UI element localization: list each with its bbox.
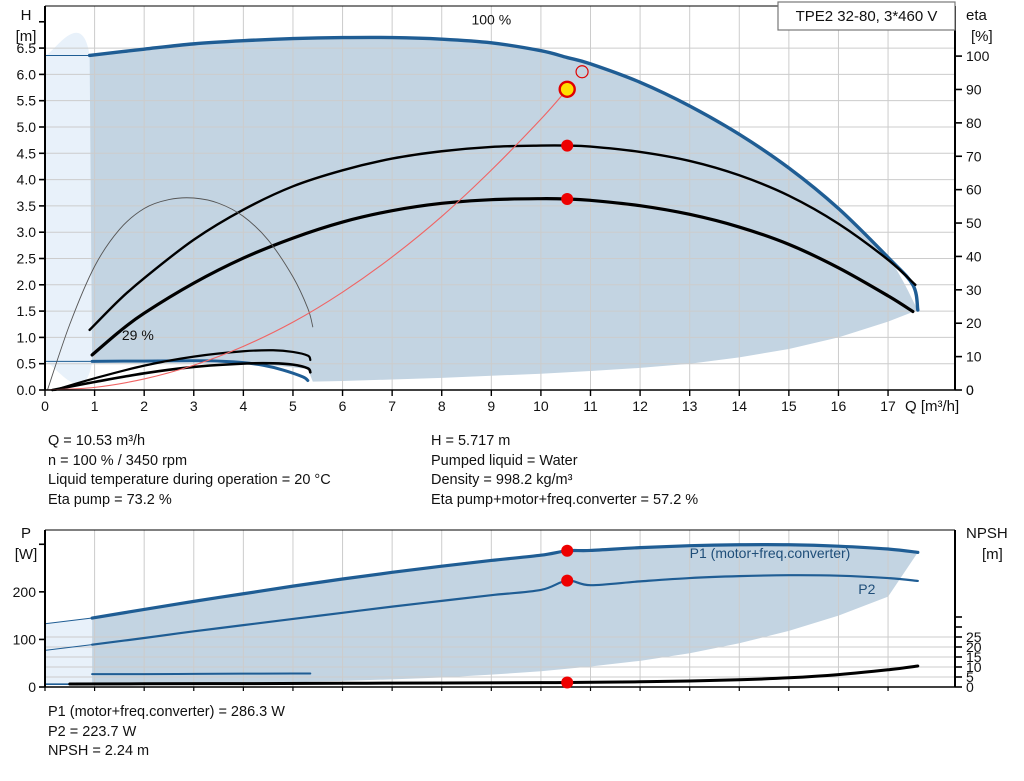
tick-label-eta: 80: [966, 115, 982, 131]
tick-label-npsh: 25: [966, 629, 982, 645]
y-axis-title-h: H: [21, 7, 32, 24]
y-axis-unit-eta: [%]: [971, 28, 993, 45]
title-box-label: TPE2 32-80, 3*460 V: [796, 8, 938, 25]
tick-label-h: 1.0: [17, 329, 37, 345]
tick-label-q: 15: [781, 398, 797, 414]
tick-label-h: 2.5: [17, 250, 37, 266]
tick-label-eta: 30: [966, 282, 982, 298]
tick-label-h: 0.5: [17, 356, 37, 372]
duty-info-left: Q = 10.53 m³/hn = 100 % / 3450 rpmLiquid…: [48, 432, 331, 510]
tick-label-eta: 90: [966, 81, 982, 97]
curve-p-29: [92, 673, 310, 674]
tick-label-h: 2.0: [17, 277, 37, 293]
duty-info-line-3: Liquid temperature during operation = 20…: [48, 471, 331, 491]
power-info-line-3: NPSH = 2.24 m: [48, 742, 285, 762]
tick-label-h: 3.5: [17, 198, 37, 214]
liquid-info-line-2: Pumped liquid = Water: [431, 452, 698, 472]
tick-label-p: 200: [13, 584, 37, 600]
tick-label-q: 13: [682, 398, 698, 414]
tick-label-q: 6: [339, 398, 347, 414]
tick-label-q: 12: [632, 398, 648, 414]
tick-label-q: 3: [190, 398, 198, 414]
tick-label-q: 16: [831, 398, 847, 414]
tick-label-h: 3.0: [17, 224, 37, 240]
tick-label-h: 1.5: [17, 303, 37, 319]
tick-label-q: 9: [487, 398, 495, 414]
tick-label-h: 4.0: [17, 172, 37, 188]
x-axis-title: Q [m³/h]: [905, 398, 959, 415]
duty-info-right: H = 5.717 mPumped liquid = WaterDensity …: [431, 432, 698, 510]
tick-label-h: 5.5: [17, 93, 37, 109]
liquid-info-line-3: Density = 998.2 kg/m³: [431, 471, 698, 491]
tick-label-zero-right: 0: [966, 382, 974, 398]
power-info: P1 (motor+freq.converter) = 286.3 WP2 = …: [48, 703, 285, 762]
tick-label-h: 5.0: [17, 119, 37, 135]
annotation-1: 100 %: [471, 11, 511, 27]
head-efficiency-svg: 0.00.51.01.52.02.53.03.54.04.55.05.56.06…: [0, 0, 1024, 425]
tick-label-q: 14: [731, 398, 747, 414]
legend-label-1: P1 (motor+freq.converter): [690, 545, 851, 561]
power-npsh-svg: 01002000510152025P[W]NPSH[m]P1 (motor+fr…: [0, 518, 1024, 700]
p1-point[interactable]: [561, 545, 573, 557]
head-efficiency-chart: 0.00.51.01.52.02.53.03.54.04.55.05.56.06…: [0, 0, 1024, 425]
y-axis-title-npsh: NPSH: [966, 525, 1008, 542]
npsh-point[interactable]: [561, 677, 573, 689]
tick-label-eta: 40: [966, 248, 982, 264]
tick-label-eta: 10: [966, 349, 982, 365]
tick-label-h: 4.5: [17, 145, 37, 161]
tick-label-q: 11: [583, 398, 598, 414]
tick-label-q: 4: [239, 398, 247, 414]
tick-label-q: 0: [41, 398, 49, 414]
tick-label-q: 1: [91, 398, 99, 414]
tick-label-eta: 100: [966, 48, 990, 64]
tick-label-p: 100: [13, 631, 37, 647]
tick-label-p: 0: [28, 679, 36, 695]
eta-pump-point[interactable]: [561, 140, 573, 152]
eta-total-point[interactable]: [561, 193, 573, 205]
duty-info-line-1: Q = 10.53 m³/h: [48, 432, 331, 452]
tick-label-q: 10: [533, 398, 549, 414]
legend-label-2: P2: [858, 581, 875, 597]
power-info-line-2: P2 = 223.7 W: [48, 723, 285, 743]
duty-info-line-2: n = 100 % / 3450 rpm: [48, 452, 331, 472]
y-axis-title-eta: eta: [966, 7, 988, 24]
y-axis-title-p: P: [21, 525, 31, 542]
pump-curve-page: 0.00.51.01.52.02.53.03.54.04.55.05.56.06…: [0, 0, 1024, 781]
tick-label-q: 2: [140, 398, 148, 414]
tick-label-eta: 60: [966, 182, 982, 198]
tick-label-q: 8: [438, 398, 446, 414]
p2-point[interactable]: [561, 575, 573, 587]
y-axis-unit-h: [m]: [16, 28, 37, 45]
tick-label-q: 7: [388, 398, 396, 414]
duty-info-line-4: Eta pump = 73.2 %: [48, 491, 331, 511]
tick-label-h: 0.0: [17, 382, 37, 398]
tick-label-eta: 50: [966, 215, 982, 231]
tick-label-h: 6.0: [17, 66, 37, 82]
power-npsh-chart: 01002000510152025P[W]NPSH[m]P1 (motor+fr…: [0, 518, 1024, 700]
min-speed-band: [45, 33, 97, 384]
liquid-info-line-1: H = 5.717 m: [431, 432, 698, 452]
liquid-info-line-4: Eta pump+motor+freq.converter = 57.2 %: [431, 491, 698, 511]
duty-point[interactable]: [560, 82, 575, 97]
min-speed-band: [45, 618, 92, 684]
y-axis-unit-npsh: [m]: [982, 546, 1003, 563]
annotation-2: 29 %: [122, 327, 154, 343]
power-info-line-1: P1 (motor+freq.converter) = 286.3 W: [48, 703, 285, 723]
tick-label-q: 17: [880, 398, 896, 414]
tick-label-eta: 70: [966, 148, 982, 164]
tick-label-eta: 20: [966, 315, 982, 331]
y-axis-unit-p: [W]: [15, 546, 38, 563]
tick-label-q: 5: [289, 398, 297, 414]
